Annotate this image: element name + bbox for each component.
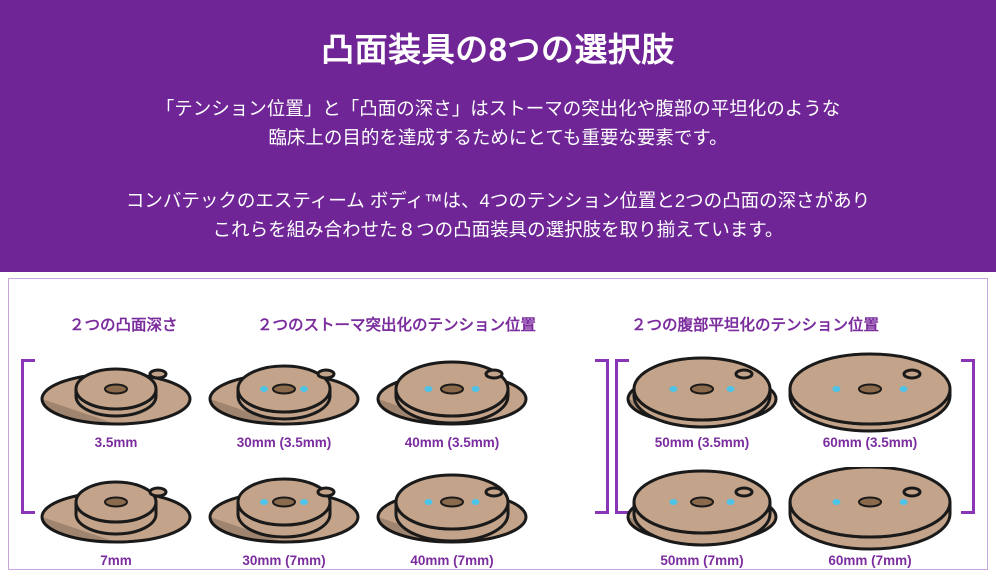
barrier-figure-label: 30mm (7mm): [199, 553, 369, 568]
hero-paragraph-1: 「テンション位置」と「凸面の深さ」はストーマの突出化や腹部の平坦化のような 臨床…: [24, 94, 972, 152]
page-title: 凸面装具の8つの選択肢: [24, 28, 972, 72]
barrier-figure: [367, 349, 537, 435]
bracket-flat-close: [961, 359, 975, 514]
barrier-figure-label: 40mm (3.5mm): [367, 435, 537, 450]
barrier-figure-label: 60mm (3.5mm): [785, 435, 955, 450]
group-header-depth: ２つの凸面深さ: [69, 313, 178, 335]
hero-paragraph-1-line-2: 臨床上の目的を達成するためにとても重要な要素です。: [24, 123, 972, 152]
hero-paragraph-2: コンバテックのエスティーム ボディ™は、4つのテンション位置と2つの凸面の深さが…: [24, 186, 972, 244]
hero-paragraph-2-line-2: これらを組み合わせた８つの凸面装具の選択肢を取り揃えています。: [24, 215, 972, 244]
barrier-figure: [31, 349, 201, 435]
hero-panel: 凸面装具の8つの選択肢 「テンション位置」と「凸面の深さ」はストーマの突出化や腹…: [0, 0, 996, 272]
barrier-figure-label: 60mm (7mm): [785, 553, 955, 568]
barrier-figure: [31, 467, 201, 553]
barrier-figure: [199, 349, 369, 435]
options-panel: ２つの凸面深さ ２つのストーマ突出化のテンション位置 ２つの腹部平坦化のテンショ…: [8, 278, 988, 570]
barrier-figure-label: 50mm (7mm): [617, 553, 787, 568]
group-header-stoma-protrusion: ２つのストーマ突出化のテンション位置: [257, 313, 536, 335]
bracket-stoma-close: [595, 359, 609, 514]
infographic-canvas: 凸面装具の8つの選択肢 「テンション位置」と「凸面の深さ」はストーマの突出化や腹…: [0, 0, 996, 578]
barrier-figure-label: 50mm (3.5mm): [617, 435, 787, 450]
barrier-figure: [199, 467, 369, 553]
barrier-figure: [785, 349, 955, 435]
barrier-figure: [785, 467, 955, 553]
barrier-figure: [367, 467, 537, 553]
barrier-figure-label: 30mm (3.5mm): [199, 435, 369, 450]
barrier-figure: [617, 467, 787, 553]
barrier-figure: [617, 349, 787, 435]
hero-paragraph-1-line-1: 「テンション位置」と「凸面の深さ」はストーマの突出化や腹部の平坦化のような: [24, 94, 972, 123]
barrier-figure-label: 40mm (7mm): [367, 553, 537, 568]
barrier-figure-label: 7mm: [31, 553, 201, 568]
group-header-abdominal-flattening: ２つの腹部平坦化のテンション位置: [631, 313, 879, 335]
barrier-figure-label: 3.5mm: [31, 435, 201, 450]
hero-paragraph-2-line-1: コンバテックのエスティーム ボディ™は、4つのテンション位置と2つの凸面の深さが…: [24, 186, 972, 215]
